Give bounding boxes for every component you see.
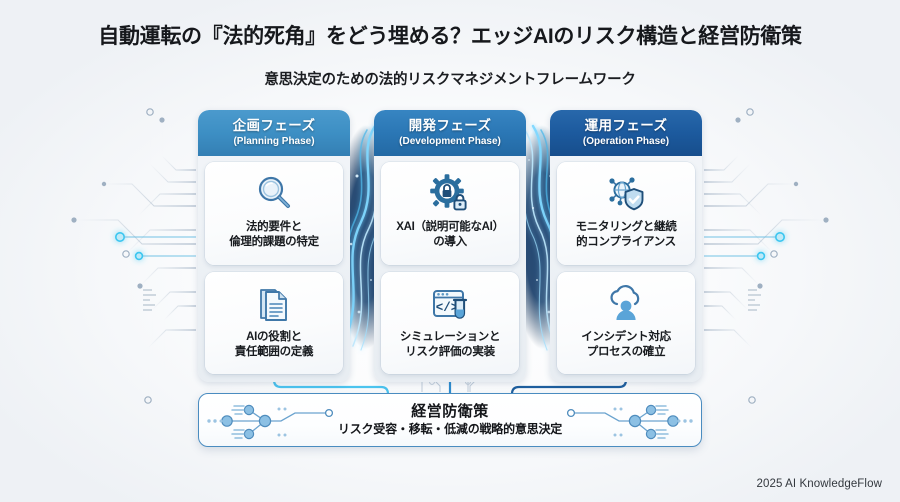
banner-text-group: 経営防衛策 リスク受容・移転・低減の戦略的意思決定 xyxy=(199,394,701,446)
card-simulation-risk[interactable]: </> シミュレーションと リスク評価の実装 xyxy=(381,272,519,375)
card-monitoring-compliance[interactable]: モニタリングと継続 的コンプライアンス xyxy=(557,162,695,265)
magnifier-icon xyxy=(252,171,296,217)
card-label: XAI（説明可能なAI） の導入 xyxy=(396,220,504,250)
phase-header-planning: 企画フェーズ (Planning Phase) xyxy=(198,110,350,156)
phase-column-operation: 運用フェーズ (Operation Phase) xyxy=(550,110,702,382)
page-subtitle: 意思決定のための法的リスクマネジメントフレームワーク xyxy=(0,68,900,89)
document-icon xyxy=(252,281,296,327)
defense-strategy-banner: 経営防衛策 リスク受容・移転・低減の戦略的意思決定 xyxy=(198,393,702,447)
phase-cards-planning: 法的要件と 倫理的課題の特定 xyxy=(198,156,350,382)
phase-column-planning: 企画フェーズ (Planning Phase) 法的要件と 倫理的課題 xyxy=(198,110,350,382)
infographic-canvas: 自動運転の『法的死角』をどう埋める？エッジAIのリスク構造と経営防衛策 意思決定… xyxy=(0,0,900,502)
phase-cards-operation: モニタリングと継続 的コンプライアンス インシデント対応 プロセスの確立 xyxy=(550,156,702,382)
network-shield-icon xyxy=(604,171,648,217)
card-label: モニタリングと継続 的コンプライアンス xyxy=(576,220,677,250)
cloud-person-icon xyxy=(604,281,648,327)
phase-title-en: (Planning Phase) xyxy=(233,136,314,147)
phase-column-development: 開発フェーズ (Development Phase) xyxy=(374,110,526,382)
banner-subtitle: リスク受容・移転・低減の戦略的意思決定 xyxy=(338,423,562,437)
card-label: AIの役割と 責任範囲の定義 xyxy=(235,330,313,360)
card-label: 法的要件と 倫理的課題の特定 xyxy=(229,220,319,250)
phase-columns: 企画フェーズ (Planning Phase) 法的要件と 倫理的課題 xyxy=(198,110,702,382)
phase-header-operation: 運用フェーズ (Operation Phase) xyxy=(550,110,702,156)
code-testtube-icon: </> xyxy=(428,281,472,327)
phase-title-jp: 運用フェーズ xyxy=(585,119,668,134)
card-incident-response[interactable]: インシデント対応 プロセスの確立 xyxy=(557,272,695,375)
page-title: 自動運転の『法的死角』をどう埋める？エッジAIのリスク構造と経営防衛策 xyxy=(0,20,900,50)
phase-title-jp: 開発フェーズ xyxy=(409,119,492,134)
card-ai-role-definition[interactable]: AIの役割と 責任範囲の定義 xyxy=(205,272,343,375)
banner-title: 経営防衛策 xyxy=(411,403,489,420)
footer-credit: 2025 AI KnowledgeFlow xyxy=(757,478,883,490)
phase-title-jp: 企画フェーズ xyxy=(233,119,316,134)
card-xai-adoption[interactable]: XAI（説明可能なAI） の導入 xyxy=(381,162,519,265)
gear-lock-icon xyxy=(428,171,472,217)
phase-cards-development: XAI（説明可能なAI） の導入 </> xyxy=(374,156,526,382)
phase-header-development: 開発フェーズ (Development Phase) xyxy=(374,110,526,156)
card-label: インシデント対応 プロセスの確立 xyxy=(581,330,671,360)
phase-title-en: (Development Phase) xyxy=(399,136,501,147)
card-label: シミュレーションと リスク評価の実装 xyxy=(400,330,500,360)
phase-title-en: (Operation Phase) xyxy=(583,136,669,147)
card-legal-requirements[interactable]: 法的要件と 倫理的課題の特定 xyxy=(205,162,343,265)
